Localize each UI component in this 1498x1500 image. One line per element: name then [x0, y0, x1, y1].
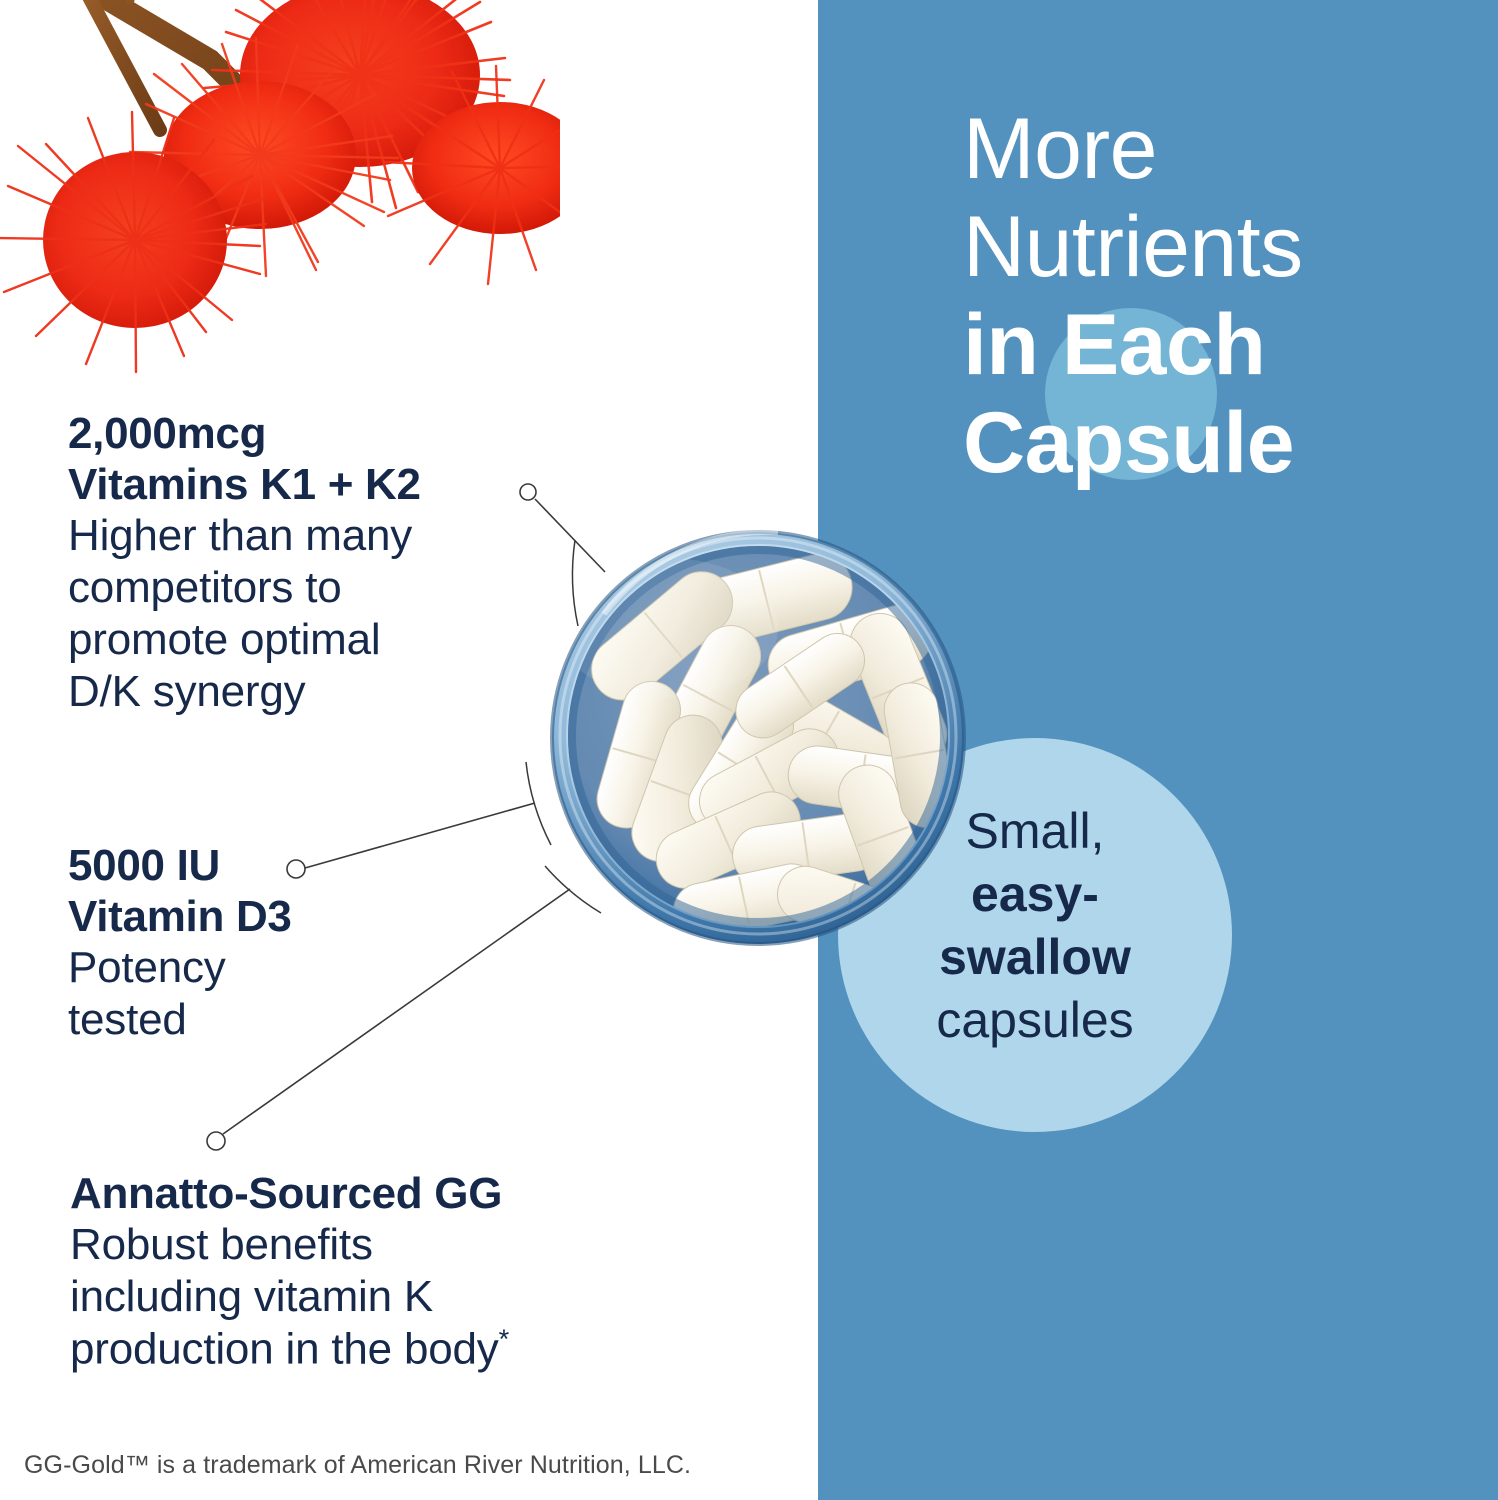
- callout-annatto-gg: Annatto-Sourced GG Robust benefits inclu…: [70, 1168, 710, 1375]
- capsule-bowl-image: [548, 518, 973, 966]
- headline-line-1: More: [963, 100, 1483, 198]
- callout-2-body-line-2: tested: [68, 994, 468, 1046]
- callout-2-title-line-1: 5000 IU: [68, 840, 468, 891]
- callout-2-title-line-2: Vitamin D3: [68, 891, 468, 942]
- callout-3-body-line-1: Robust benefits: [70, 1219, 710, 1271]
- callout-1-body-line-1: Higher than many: [68, 510, 538, 562]
- headline-line-2: Nutrients: [963, 198, 1483, 296]
- callout-1-title-line-1: 2,000mcg: [68, 408, 538, 459]
- callout-3-title-line-1: Annatto-Sourced GG: [70, 1168, 710, 1219]
- callout-1-body-line-4: D/K synergy: [68, 666, 538, 718]
- marketing-infographic: More Nutrients in Each Capsule Small, ea…: [0, 0, 1498, 1500]
- trademark-footer: GG-Gold™ is a trademark of American Rive…: [24, 1451, 691, 1480]
- callout-3-body-line-2: including vitamin K: [70, 1271, 710, 1323]
- callout-1-body-line-2: competitors to: [68, 562, 538, 614]
- small-text-line-4: capsules: [838, 989, 1232, 1052]
- headline-line-4: Capsule: [963, 394, 1483, 492]
- callout-3-body-line-3: production in the body*: [70, 1323, 710, 1376]
- callout-vitamins-k: 2,000mcg Vitamins K1 + K2 Higher than ma…: [68, 408, 538, 718]
- callout-2-body-line-1: Potency: [68, 942, 468, 994]
- headline-line-3: in Each: [963, 296, 1483, 394]
- headline: More Nutrients in Each Capsule: [963, 100, 1483, 492]
- callout-vitamin-d3: 5000 IU Vitamin D3 Potency tested: [68, 840, 468, 1046]
- footnote-asterisk: *: [499, 1323, 509, 1354]
- callout-1-body-line-3: promote optimal: [68, 614, 538, 666]
- annatto-pods-image: [0, 0, 560, 400]
- callout-1-title-line-2: Vitamins K1 + K2: [68, 459, 538, 510]
- callout-3-body-line-3-text: production in the body: [70, 1325, 499, 1374]
